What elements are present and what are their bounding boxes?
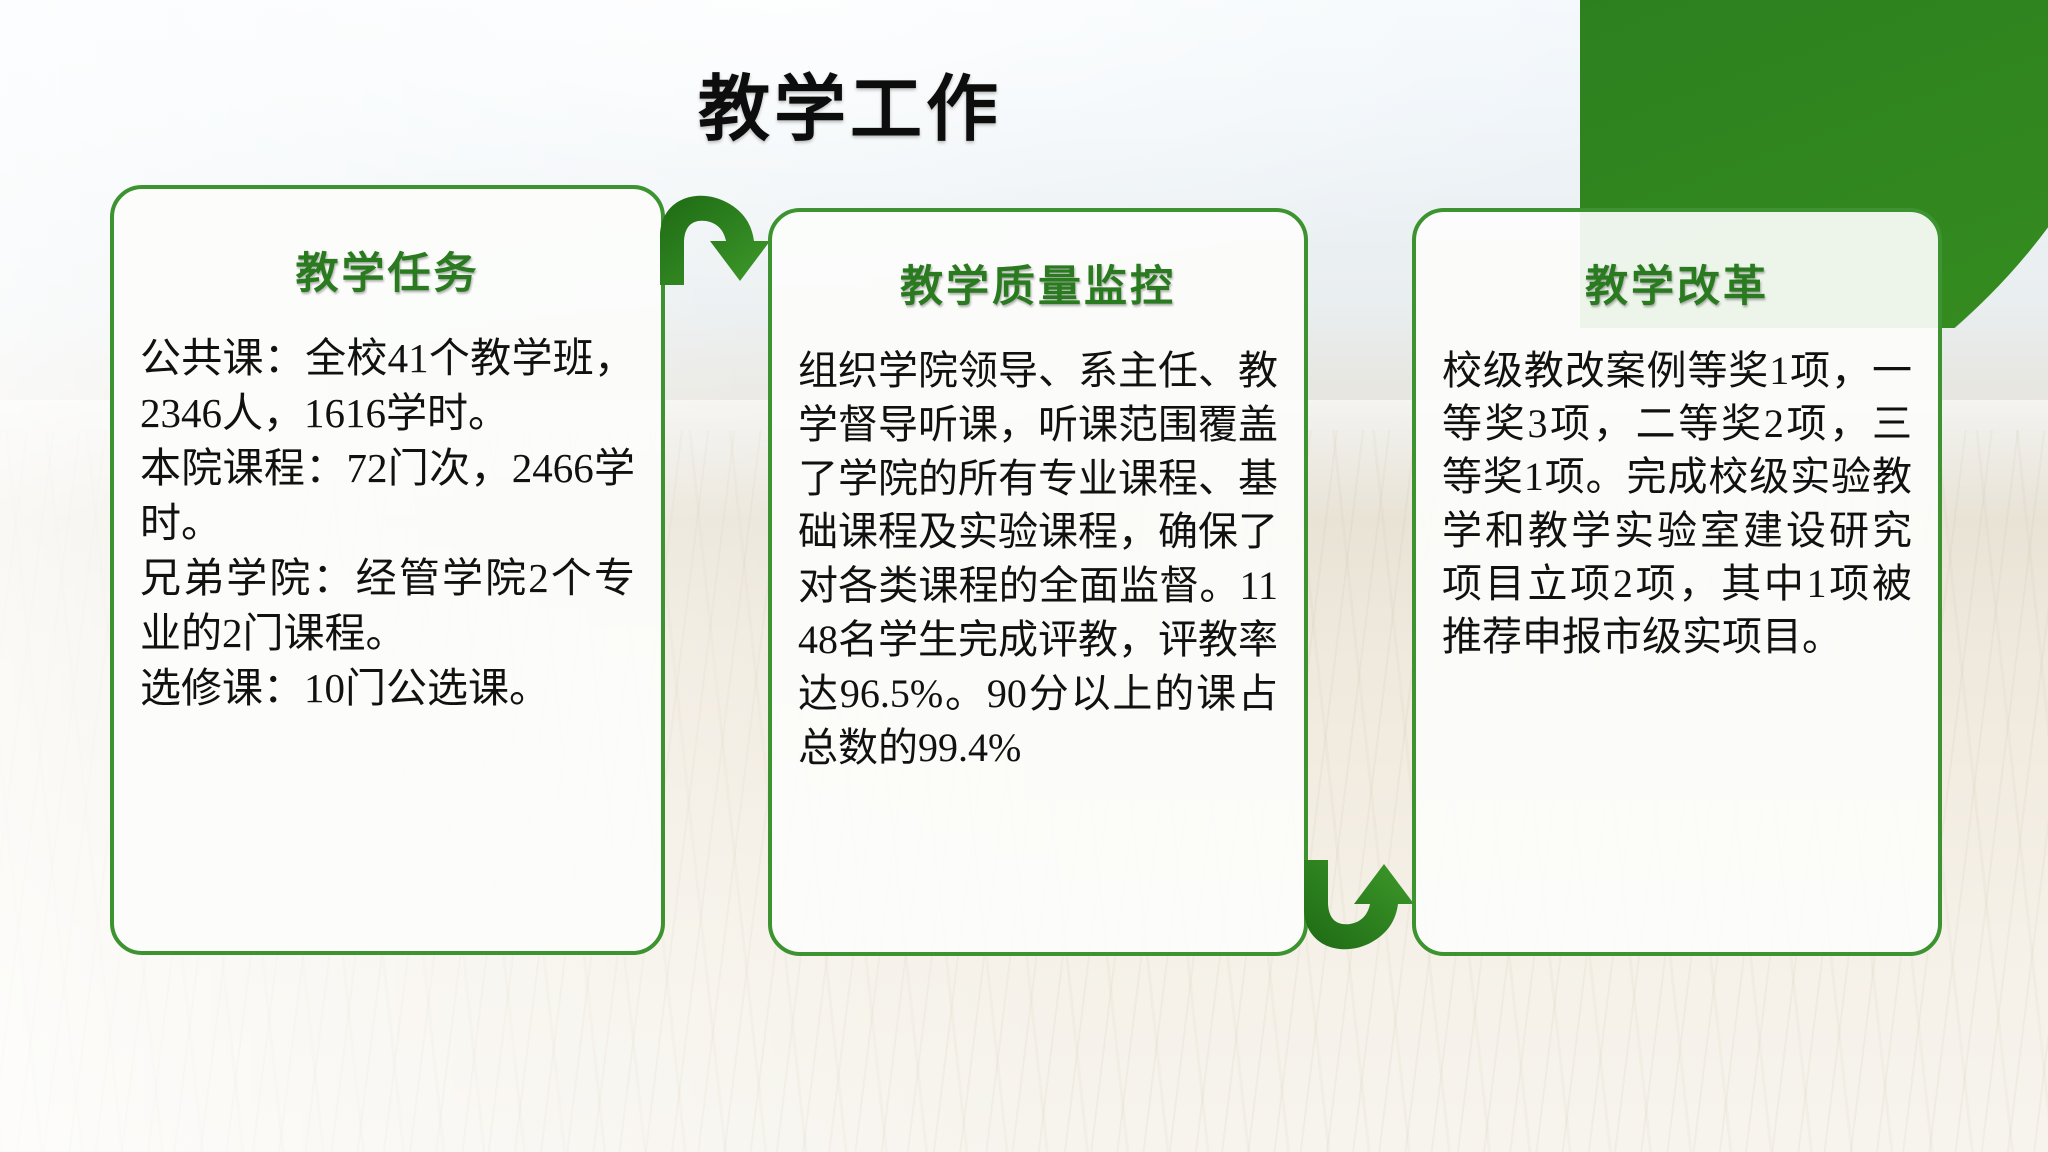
page-title: 教学工作 <box>0 50 1700 155</box>
card-title-teaching-reform: 教学改革 <box>1442 252 1912 314</box>
card-body-line: 选修课：10门公选课。 <box>140 661 635 716</box>
card-body-teaching-quality-monitoring: 组织学院领导、系主任、教学督导听课，听课范围覆盖了学院的所有专业课程、基础课程及… <box>798 344 1278 774</box>
connector-card2-to-card3 <box>1292 855 1432 960</box>
slide-canvas: 教学工作 教学任务 公共课：全校41个教学班，2346人，1616学时。 本院课… <box>0 0 2048 1152</box>
card-body-teaching-reform: 校级教改案例等奖1项，一等奖3项，二等奖2项，三等奖1项。完成校级实验教学和教学… <box>1442 344 1912 663</box>
card-teaching-tasks[interactable]: 教学任务 公共课：全校41个教学班，2346人，1616学时。 本院课程：72门… <box>110 185 665 955</box>
card-body-line: 公共课：全校41个教学班，2346人，1616学时。 <box>140 331 635 441</box>
card-body-line: 本院课程：72门次，2466学时。 <box>140 441 635 551</box>
card-teaching-quality-monitoring[interactable]: 教学质量监控 组织学院领导、系主任、教学督导听课，听课范围覆盖了学院的所有专业课… <box>768 208 1308 956</box>
up-arrow-icon <box>1292 855 1432 960</box>
card-teaching-reform[interactable]: 教学改革 校级教改案例等奖1项，一等奖3项，二等奖2项，三等奖1项。完成校级实验… <box>1412 208 1942 956</box>
down-arrow-icon <box>648 185 788 290</box>
card-title-teaching-tasks: 教学任务 <box>140 239 635 301</box>
card-body-text: 组织学院领导、系主任、教学督导听课，听课范围覆盖了学院的所有专业课程、基础课程及… <box>798 348 1278 770</box>
card-body-text: 校级教改案例等奖1项，一等奖3项，二等奖2项，三等奖1项。完成校级实验教学和教学… <box>1442 348 1912 659</box>
card-title-teaching-quality-monitoring: 教学质量监控 <box>798 252 1278 314</box>
connector-card1-to-card2 <box>648 185 788 290</box>
card-body-line: 兄弟学院：经管学院2个专业的2门课程。 <box>140 551 635 661</box>
card-body-teaching-tasks: 公共课：全校41个教学班，2346人，1616学时。 本院课程：72门次，246… <box>140 331 635 716</box>
